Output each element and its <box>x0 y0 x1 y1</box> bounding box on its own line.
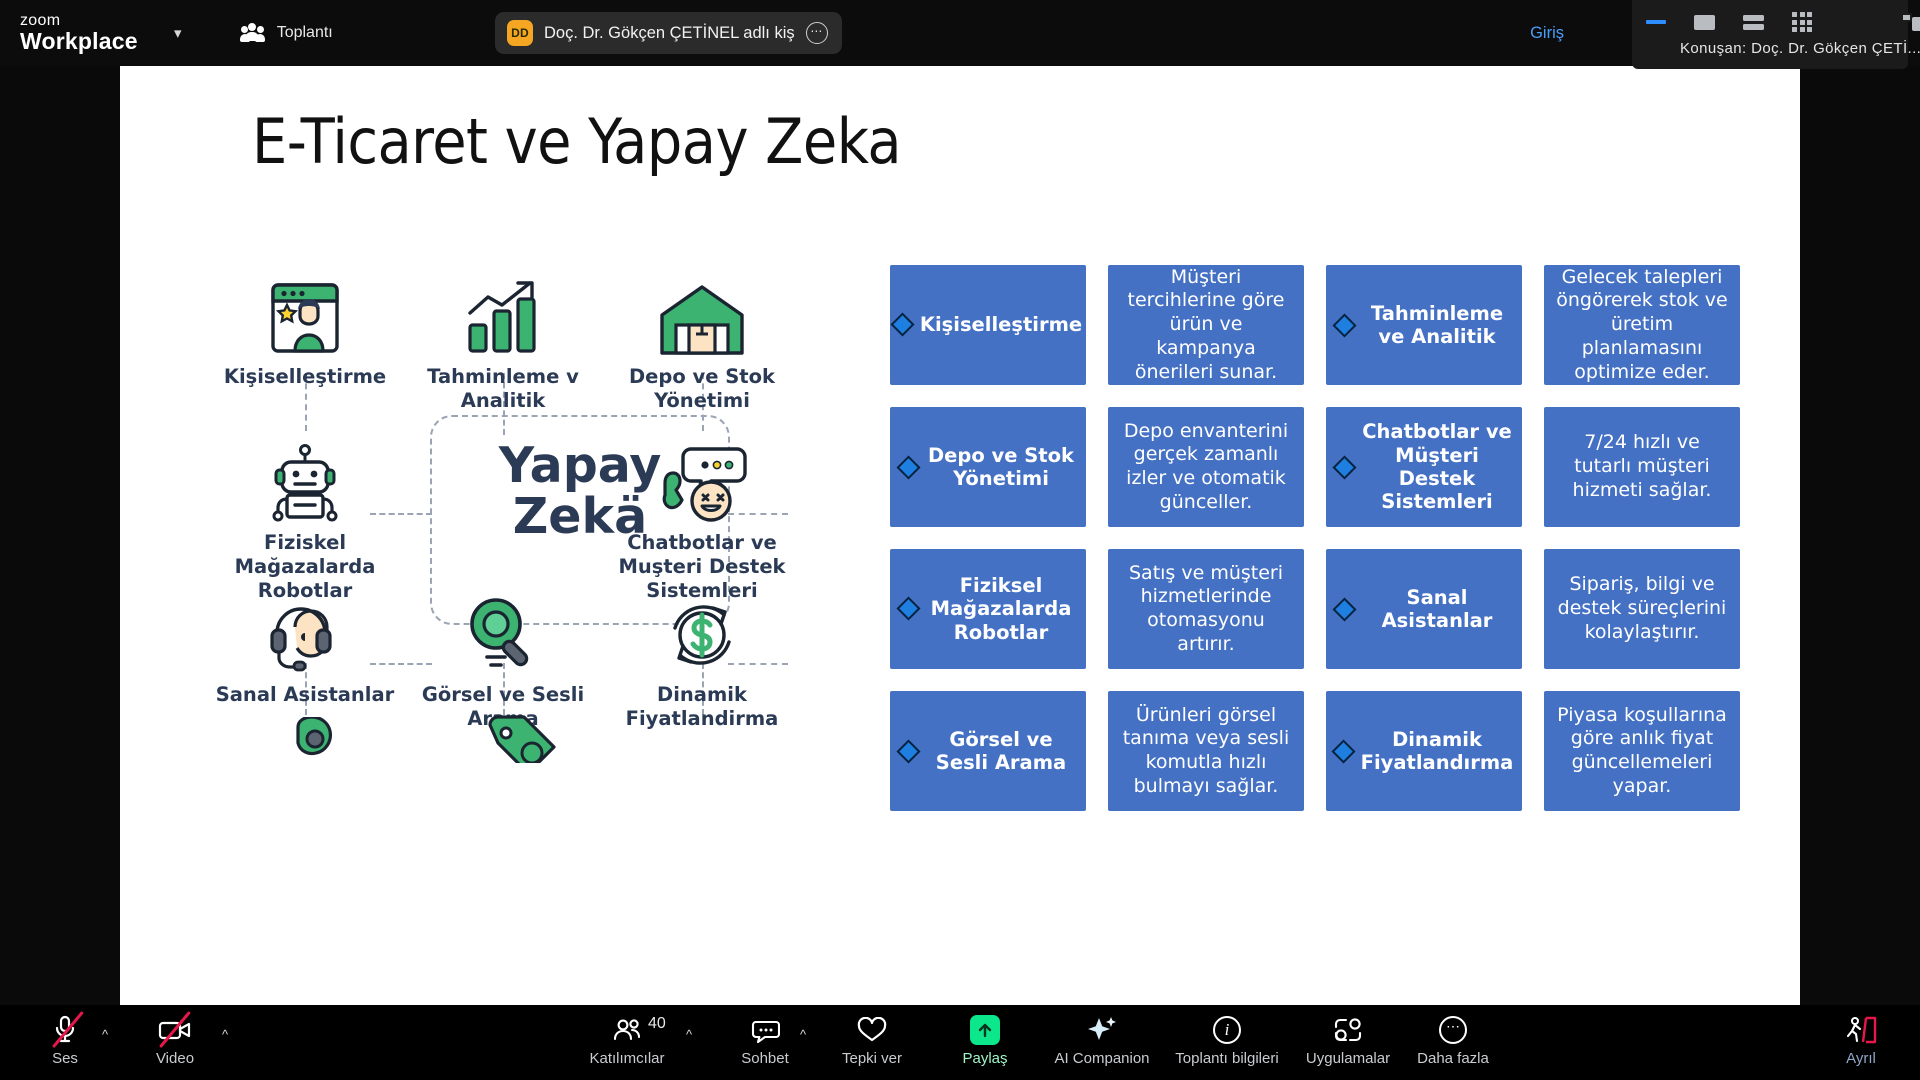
ai-companion-label: AI Companion <box>1054 1050 1149 1067</box>
diamond-bullet-icon <box>1332 455 1356 479</box>
zoom-wordmark: zoom <box>20 13 138 29</box>
leave-button[interactable]: Ayrıl <box>1806 1013 1916 1067</box>
share-screen-icon <box>970 1013 1000 1047</box>
card-description[interactable]: Sipariş, bilgi ve destek süreçlerini kol… <box>1544 549 1740 669</box>
card-desc-text: Piyasa koşullarına göre anlık fiyat günc… <box>1554 704 1730 799</box>
diamond-bullet-icon <box>896 739 920 763</box>
chat-bubble-icon <box>750 1013 780 1047</box>
node-label: Dinamik Fiyatlandirma <box>607 683 797 731</box>
headset-agent-icon <box>210 583 400 675</box>
leave-door-icon <box>1844 1013 1878 1047</box>
heart-icon <box>857 1013 887 1047</box>
center-line-2: Zekä <box>465 491 695 542</box>
workplace-wordmark: Workplace <box>20 30 138 53</box>
meeting-info-label: Toplantı bilgileri <box>1175 1050 1278 1067</box>
minimize-icon[interactable] <box>1646 12 1666 32</box>
card-desc-text: Sipariş, bilgi ve destek süreçlerini kol… <box>1554 573 1730 644</box>
bar-chart-growth-icon <box>408 265 598 357</box>
infographic-center-label: Yapay Zekä <box>465 440 695 543</box>
card-title-text: Kişiselleştirme <box>920 313 1082 336</box>
more-label: Daha fazla <box>1417 1050 1489 1067</box>
leave-label: Ayrıl <box>1846 1050 1876 1067</box>
active-speaker-pill[interactable]: DD Doç. Dr. Gökçen ÇETİNEL adlı kiş ⋯ <box>495 12 842 54</box>
node-depo: Depo ve Stok Yönetimi <box>607 265 797 413</box>
speaker-view-icon[interactable] <box>1694 12 1715 32</box>
card-title[interactable]: Fiziksel Mağazalarda Robotlar <box>890 549 1086 669</box>
sparkle-icon <box>1087 1013 1117 1047</box>
warehouse-box-icon <box>607 265 797 357</box>
node-robotlar: Fiziskel Mağazalarda Robotlar <box>210 431 400 602</box>
gallery-view-icon[interactable] <box>1743 12 1764 32</box>
card-title[interactable]: Sanal Asistanlar <box>1326 549 1522 669</box>
card-description[interactable]: Gelecek talepleri öngörerek stok ve üret… <box>1544 265 1740 385</box>
chat-label: Sohbet <box>741 1050 789 1067</box>
node-gorsel: Görsel ve Sesli Arama <box>408 583 598 731</box>
more-button[interactable]: ⋯ Daha fazla <box>1398 1013 1508 1067</box>
speaking-status: Konuşan: Doç. Dr. Gökçen ÇETİ... <box>1632 32 1908 57</box>
card-description[interactable]: Ürünleri görsel tanıma veya sesli komutl… <box>1108 691 1304 811</box>
zoom-meeting-window: zoom Workplace ▾ Toplantı DD Doç. Dr. Gö… <box>0 0 1920 1080</box>
node-label: Tahminleme v Analitik <box>408 365 598 413</box>
reactions-label: Tepki ver <box>842 1050 902 1067</box>
info-circle-icon: i <box>1213 1013 1241 1047</box>
diamond-bullet-icon <box>1331 739 1355 763</box>
diamond-bullet-icon <box>896 455 920 479</box>
tab-meeting-label: Toplantı <box>277 24 333 42</box>
card-desc-text: Ürünleri görsel tanıma veya sesli komutl… <box>1118 704 1294 799</box>
card-description[interactable]: 7/24 hızlı ve tutarlı müşteri hizmeti sa… <box>1544 407 1740 527</box>
video-button[interactable]: Video <box>120 1013 230 1067</box>
diamond-bullet-icon <box>1332 313 1356 337</box>
card-desc-text: Gelecek talepleri öngörerek stok ve üret… <box>1554 266 1730 385</box>
card-desc-text: Müşteri tercihlerine göre ürün ve kampan… <box>1118 266 1294 385</box>
microphone-muted-icon <box>51 1013 79 1047</box>
video-label: Video <box>156 1050 194 1067</box>
card-title-text: Fiziksel Mağazalarda Robotlar <box>926 574 1076 644</box>
ellipsis-circle-icon: ⋯ <box>1439 1013 1467 1047</box>
card-title-text: Sanal Asistanlar <box>1362 586 1512 633</box>
card-desc-text: Satış ve müşteri hizmetlerinde otomasyon… <box>1118 562 1294 657</box>
participants-icon: 40 <box>612 1013 642 1047</box>
card-title-text: Tahminleme ve Analitik <box>1362 302 1512 349</box>
apps-button[interactable]: Uygulamalar <box>1293 1013 1403 1067</box>
profile-window-icon <box>210 265 400 357</box>
card-description[interactable]: Piyasa koşullarına göre anlık fiyat günc… <box>1544 691 1740 811</box>
center-line-1: Yapay <box>465 440 695 491</box>
participants-label: Katılımcılar <box>589 1050 664 1067</box>
card-title-text: Dinamik Fiyatlandırma <box>1361 728 1514 775</box>
node-sanal: Sanal Asistanlar <box>210 583 400 707</box>
node-label: Kişiselleştirme <box>210 365 400 389</box>
partial-icon-tag <box>482 713 560 768</box>
active-speaker-name: Doç. Dr. Gökçen ÇETİNEL adlı kiş <box>544 24 795 43</box>
reactions-button[interactable]: Tepki ver <box>817 1013 927 1067</box>
card-desc-text: Depo envanterini gerçek zamanlı izler ve… <box>1118 420 1294 515</box>
avatar: DD <box>507 20 533 46</box>
diamond-bullet-icon <box>1332 597 1356 621</box>
video-options-caret-icon[interactable]: ^ <box>222 1027 228 1042</box>
participants-icon <box>240 23 266 43</box>
node-tahminleme: Tahminleme v Analitik <box>408 265 598 413</box>
audio-label: Ses <box>52 1050 78 1067</box>
card-description[interactable]: Depo envanterini gerçek zamanlı izler ve… <box>1108 407 1304 527</box>
card-title[interactable]: Görsel ve Sesli Arama <box>890 691 1086 811</box>
meeting-controls-bar: Ses ^ Video ^ 40 <box>0 1005 1920 1080</box>
node-dinamik: Dinamik Fiyatlandirma <box>607 583 797 731</box>
shared-slide: E-Ticaret ve Yapay Zeka <box>120 65 1800 1005</box>
card-description[interactable]: Satış ve müşteri hizmetlerinde otomasyon… <box>1108 549 1304 669</box>
card-title-text: Chatbotlar ve Müşteri Destek Sistemleri <box>1362 420 1512 514</box>
zoom-logo: zoom Workplace <box>20 13 138 53</box>
audio-options-caret-icon[interactable]: ^ <box>102 1027 108 1042</box>
card-title-text: Görsel ve Sesli Arama <box>926 728 1076 775</box>
chat-caret-icon[interactable]: ^ <box>800 1027 806 1042</box>
card-desc-text: 7/24 hızlı ve tutarlı müşteri hizmeti sa… <box>1554 431 1730 502</box>
ellipsis-icon[interactable]: ⋯ <box>806 22 828 44</box>
signin-link[interactable]: Giriş <box>1530 24 1564 43</box>
meeting-info-button[interactable]: i Toplantı bilgileri <box>1172 1013 1282 1067</box>
card-title[interactable]: Depo ve Stok Yönetimi <box>890 407 1086 527</box>
card-title[interactable]: Chatbotlar ve Müşteri Destek Sistemleri <box>1326 407 1522 527</box>
tab-meeting[interactable]: Toplantı <box>232 17 341 49</box>
robot-icon <box>210 431 400 523</box>
apps-icon <box>1333 1013 1363 1047</box>
apps-label: Uygulamalar <box>1306 1050 1390 1067</box>
dollar-refresh-icon <box>607 583 797 675</box>
node-label: Depo ve Stok Yönetimi <box>607 365 797 413</box>
diamond-bullet-icon <box>890 313 914 337</box>
infographic: Kişiselleştirme Tahminleme v Analitik <box>250 265 910 885</box>
slide-title: E-Ticaret ve Yapay Zeka <box>252 105 901 178</box>
participants-button[interactable]: 40 Katılımcılar <box>572 1013 682 1067</box>
card-description[interactable]: Müşteri tercihlerine göre ürün ve kampan… <box>1108 265 1304 385</box>
card-title[interactable]: Kişiselleştirme <box>890 265 1086 385</box>
card-title-text: Depo ve Stok Yönetimi <box>926 444 1076 491</box>
chevron-down-icon[interactable]: ▾ <box>166 24 190 42</box>
diamond-bullet-icon <box>896 597 920 621</box>
partial-icon-headset <box>288 717 358 768</box>
camera-off-icon <box>158 1013 192 1047</box>
node-kisisellestirme: Kişiselleştirme <box>210 265 400 389</box>
card-title[interactable]: Dinamik Fiyatlandırma <box>1326 691 1522 811</box>
card-title[interactable]: Tahminleme ve Analitik <box>1326 265 1522 385</box>
share-label: Paylaş <box>962 1050 1007 1067</box>
participants-caret-icon[interactable]: ^ <box>686 1027 692 1042</box>
grid-view-icon[interactable] <box>1792 12 1812 32</box>
magnifier-icon <box>408 583 598 675</box>
ai-companion-button[interactable]: AI Companion <box>1047 1013 1157 1067</box>
share-screen-button[interactable]: Paylaş <box>930 1013 1040 1067</box>
feature-card-grid: Kişiselleştirme Müşteri tercihlerine gör… <box>890 265 1740 811</box>
node-label: Sanal Asistanlar <box>210 683 400 707</box>
participants-count: 40 <box>648 1015 666 1033</box>
view-controls-panel: Konuşan: Doç. Dr. Gökçen ÇETİ... <box>1632 0 1908 69</box>
